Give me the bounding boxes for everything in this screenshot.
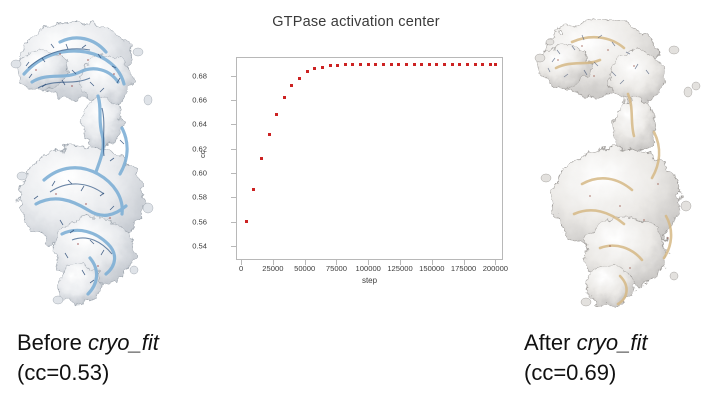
x-axis-label: step bbox=[236, 276, 503, 285]
y-tick-label: 0.56 bbox=[147, 217, 207, 226]
caption-after-line2: (cc=0.69) bbox=[524, 358, 648, 388]
caption-after-line1: After cryo_fit bbox=[524, 328, 648, 358]
density-neck-after bbox=[613, 99, 655, 153]
data-point bbox=[367, 63, 370, 66]
x-tick-label: 125000 bbox=[387, 264, 412, 273]
cc-vs-step-chart: GTPase activation center cc step 0.540.5… bbox=[200, 14, 512, 304]
molecule-after-cryofit bbox=[528, 8, 718, 313]
caption-before-prefix: Before bbox=[17, 330, 88, 355]
data-point bbox=[252, 188, 255, 191]
caption-before-line2: (cc=0.53) bbox=[17, 358, 159, 388]
density-lobe-upper-after bbox=[538, 20, 666, 105]
data-point bbox=[359, 63, 362, 66]
y-tick-label: 0.68 bbox=[147, 71, 207, 80]
caption-before: Before cryo_fit (cc=0.53) bbox=[17, 328, 159, 388]
molecule-before-cryofit bbox=[2, 8, 180, 313]
data-point bbox=[413, 63, 416, 66]
density-map-before-svg bbox=[2, 8, 180, 313]
data-point bbox=[306, 70, 309, 73]
y-tick-mark bbox=[231, 222, 236, 223]
caption-after: After cryo_fit (cc=0.69) bbox=[524, 328, 648, 388]
x-tick-label: 150000 bbox=[419, 264, 444, 273]
x-tick-label: 75000 bbox=[326, 264, 347, 273]
data-point bbox=[443, 63, 446, 66]
y-tick-mark bbox=[231, 76, 236, 77]
data-point bbox=[329, 64, 332, 67]
data-point bbox=[275, 113, 278, 116]
y-tick-mark bbox=[231, 149, 236, 150]
caption-after-prefix: After bbox=[524, 330, 577, 355]
x-tick-mark bbox=[368, 260, 369, 265]
data-point bbox=[313, 67, 316, 70]
data-point bbox=[298, 77, 301, 80]
x-tick-mark bbox=[273, 260, 274, 265]
caption-before-tool-name: cryo_fit bbox=[88, 330, 159, 355]
data-point bbox=[374, 63, 377, 66]
data-point bbox=[290, 84, 293, 87]
data-point bbox=[382, 63, 385, 66]
x-tick-mark bbox=[241, 260, 242, 265]
y-tick-mark bbox=[231, 173, 236, 174]
data-point bbox=[351, 63, 354, 66]
x-tick-mark bbox=[464, 260, 465, 265]
x-tick-mark bbox=[305, 260, 306, 265]
data-point bbox=[451, 63, 454, 66]
y-tick-mark bbox=[231, 124, 236, 125]
data-point bbox=[336, 64, 339, 67]
data-point bbox=[245, 220, 248, 223]
y-tick-label: 0.62 bbox=[147, 144, 207, 153]
data-point bbox=[494, 63, 497, 66]
data-point bbox=[405, 63, 408, 66]
data-point bbox=[260, 157, 263, 160]
x-tick-mark bbox=[336, 260, 337, 265]
data-point bbox=[474, 63, 477, 66]
density-lobe-lower-after bbox=[552, 148, 680, 306]
data-point bbox=[344, 63, 347, 66]
data-point bbox=[458, 63, 461, 66]
y-tick-label: 0.58 bbox=[147, 193, 207, 202]
y-tick-label: 0.64 bbox=[147, 120, 207, 129]
caption-before-line1: Before cryo_fit bbox=[17, 328, 159, 358]
x-tick-mark bbox=[400, 260, 401, 265]
x-tick-label: 25000 bbox=[262, 264, 283, 273]
data-point bbox=[489, 63, 492, 66]
x-tick-label: 0 bbox=[239, 264, 243, 273]
plot-frame bbox=[236, 57, 503, 260]
data-point bbox=[466, 63, 469, 66]
data-point bbox=[321, 66, 324, 69]
y-tick-mark bbox=[231, 197, 236, 198]
data-point bbox=[397, 63, 400, 66]
data-point bbox=[268, 133, 271, 136]
y-tick-label: 0.66 bbox=[147, 96, 207, 105]
data-point bbox=[420, 63, 423, 66]
data-point bbox=[435, 63, 438, 66]
data-point bbox=[428, 63, 431, 66]
chart-title: GTPase activation center bbox=[200, 14, 512, 30]
x-tick-mark bbox=[432, 260, 433, 265]
x-tick-label: 100000 bbox=[356, 264, 381, 273]
data-point bbox=[283, 96, 286, 99]
caption-after-tool-name: cryo_fit bbox=[577, 330, 648, 355]
x-tick-label: 175000 bbox=[451, 264, 476, 273]
y-tick-label: 0.60 bbox=[147, 169, 207, 178]
data-point bbox=[390, 63, 393, 66]
y-tick-mark bbox=[231, 246, 236, 247]
x-tick-label: 50000 bbox=[294, 264, 315, 273]
x-tick-label: 200000 bbox=[483, 264, 508, 273]
x-tick-mark bbox=[495, 260, 496, 265]
figure-canvas: GTPase activation center cc step 0.540.5… bbox=[0, 0, 720, 409]
y-tick-mark bbox=[231, 100, 236, 101]
density-map-after-svg bbox=[528, 8, 718, 313]
y-tick-label: 0.54 bbox=[147, 242, 207, 251]
data-point bbox=[481, 63, 484, 66]
